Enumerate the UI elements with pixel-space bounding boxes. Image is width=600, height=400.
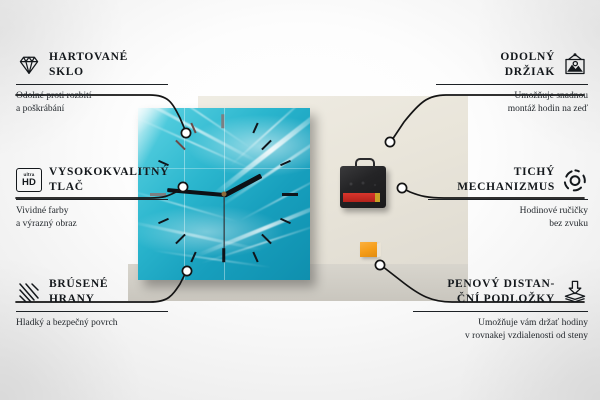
diagonal-lines-icon: [16, 279, 42, 305]
feature-description: Umožňuje snadnou montáž hodin na zeď: [436, 90, 588, 116]
feature-title: ODOLNÝ DRŽIAK: [500, 50, 555, 80]
feature-divider: [436, 84, 588, 85]
hanging-picture-icon: [562, 52, 588, 78]
feature-description: Umožňuje vám držať hodiny v rovnakej vzd…: [413, 317, 588, 343]
ultra-hd-icon-main-label: HD: [22, 178, 36, 188]
feature-title: TICHÝ MECHANIZMUS: [457, 165, 555, 195]
feature-title: PENOVÝ DISTAN- ČNÍ PODLOŽKY: [447, 277, 555, 307]
feature-description: Hodinové ručičky bez zvuku: [428, 205, 588, 231]
feature-foam-spacers: PENOVÝ DISTAN- ČNÍ PODLOŽKY Umožňuje vám…: [413, 277, 588, 344]
feature-divider: [428, 199, 588, 200]
feature-high-quality-print: ultra HD VYSOKOKVALITNÝ TLAČ Vividné far…: [16, 165, 168, 232]
ultra-hd-icon: ultra HD: [16, 167, 42, 193]
feature-title: BRÚSENÉ HRANY: [49, 277, 108, 307]
connector-endpoint-edges: [182, 266, 191, 275]
feature-ground-edges: BRÚSENÉ HRANY Hladký a bezpečný povrch: [16, 277, 168, 330]
feature-tempered-glass: HARTOVANÉ SKLO Odolné proti rozbití a po…: [16, 50, 168, 117]
gear-icon: [562, 167, 588, 193]
connector-endpoint-glass: [181, 128, 190, 137]
infographic-canvas: HARTOVANÉ SKLO Odolné proti rozbití a po…: [0, 0, 600, 400]
feature-header: HARTOVANÉ SKLO: [16, 50, 168, 80]
connector-endpoint-mechanism: [397, 183, 406, 192]
arrow-onto-layers-icon: [562, 279, 588, 305]
feature-header: PENOVÝ DISTAN- ČNÍ PODLOŽKY: [413, 277, 588, 307]
feature-divider: [16, 84, 168, 85]
feature-title: VYSOKOKVALITNÝ TLAČ: [49, 165, 169, 195]
feature-divider: [16, 199, 168, 200]
feature-description: Odolné proti rozbití a poškrábání: [16, 90, 168, 116]
feature-description: Hladký a bezpečný povrch: [16, 317, 168, 330]
connector-endpoint-holder: [385, 137, 394, 146]
feature-header: ODOLNÝ DRŽIAK: [436, 50, 588, 80]
feature-silent-mechanism: TICHÝ MECHANIZMUS Hodinové ručičky bez z…: [428, 165, 588, 232]
connector-endpoint-print: [178, 182, 187, 191]
feature-title: HARTOVANÉ SKLO: [49, 50, 128, 80]
feature-durable-holder: ODOLNÝ DRŽIAK Umožňuje snadnou montáž ho…: [436, 50, 588, 117]
connector-endpoint-foam: [375, 260, 384, 269]
feature-header: BRÚSENÉ HRANY: [16, 277, 168, 307]
feature-description: Vividné farby a výrazný obraz: [16, 205, 168, 231]
feature-header: ultra HD VYSOKOKVALITNÝ TLAČ: [16, 165, 168, 195]
feature-divider: [16, 311, 168, 312]
feature-header: TICHÝ MECHANIZMUS: [428, 165, 588, 195]
diamond-icon: [16, 52, 42, 78]
feature-divider: [413, 311, 588, 312]
